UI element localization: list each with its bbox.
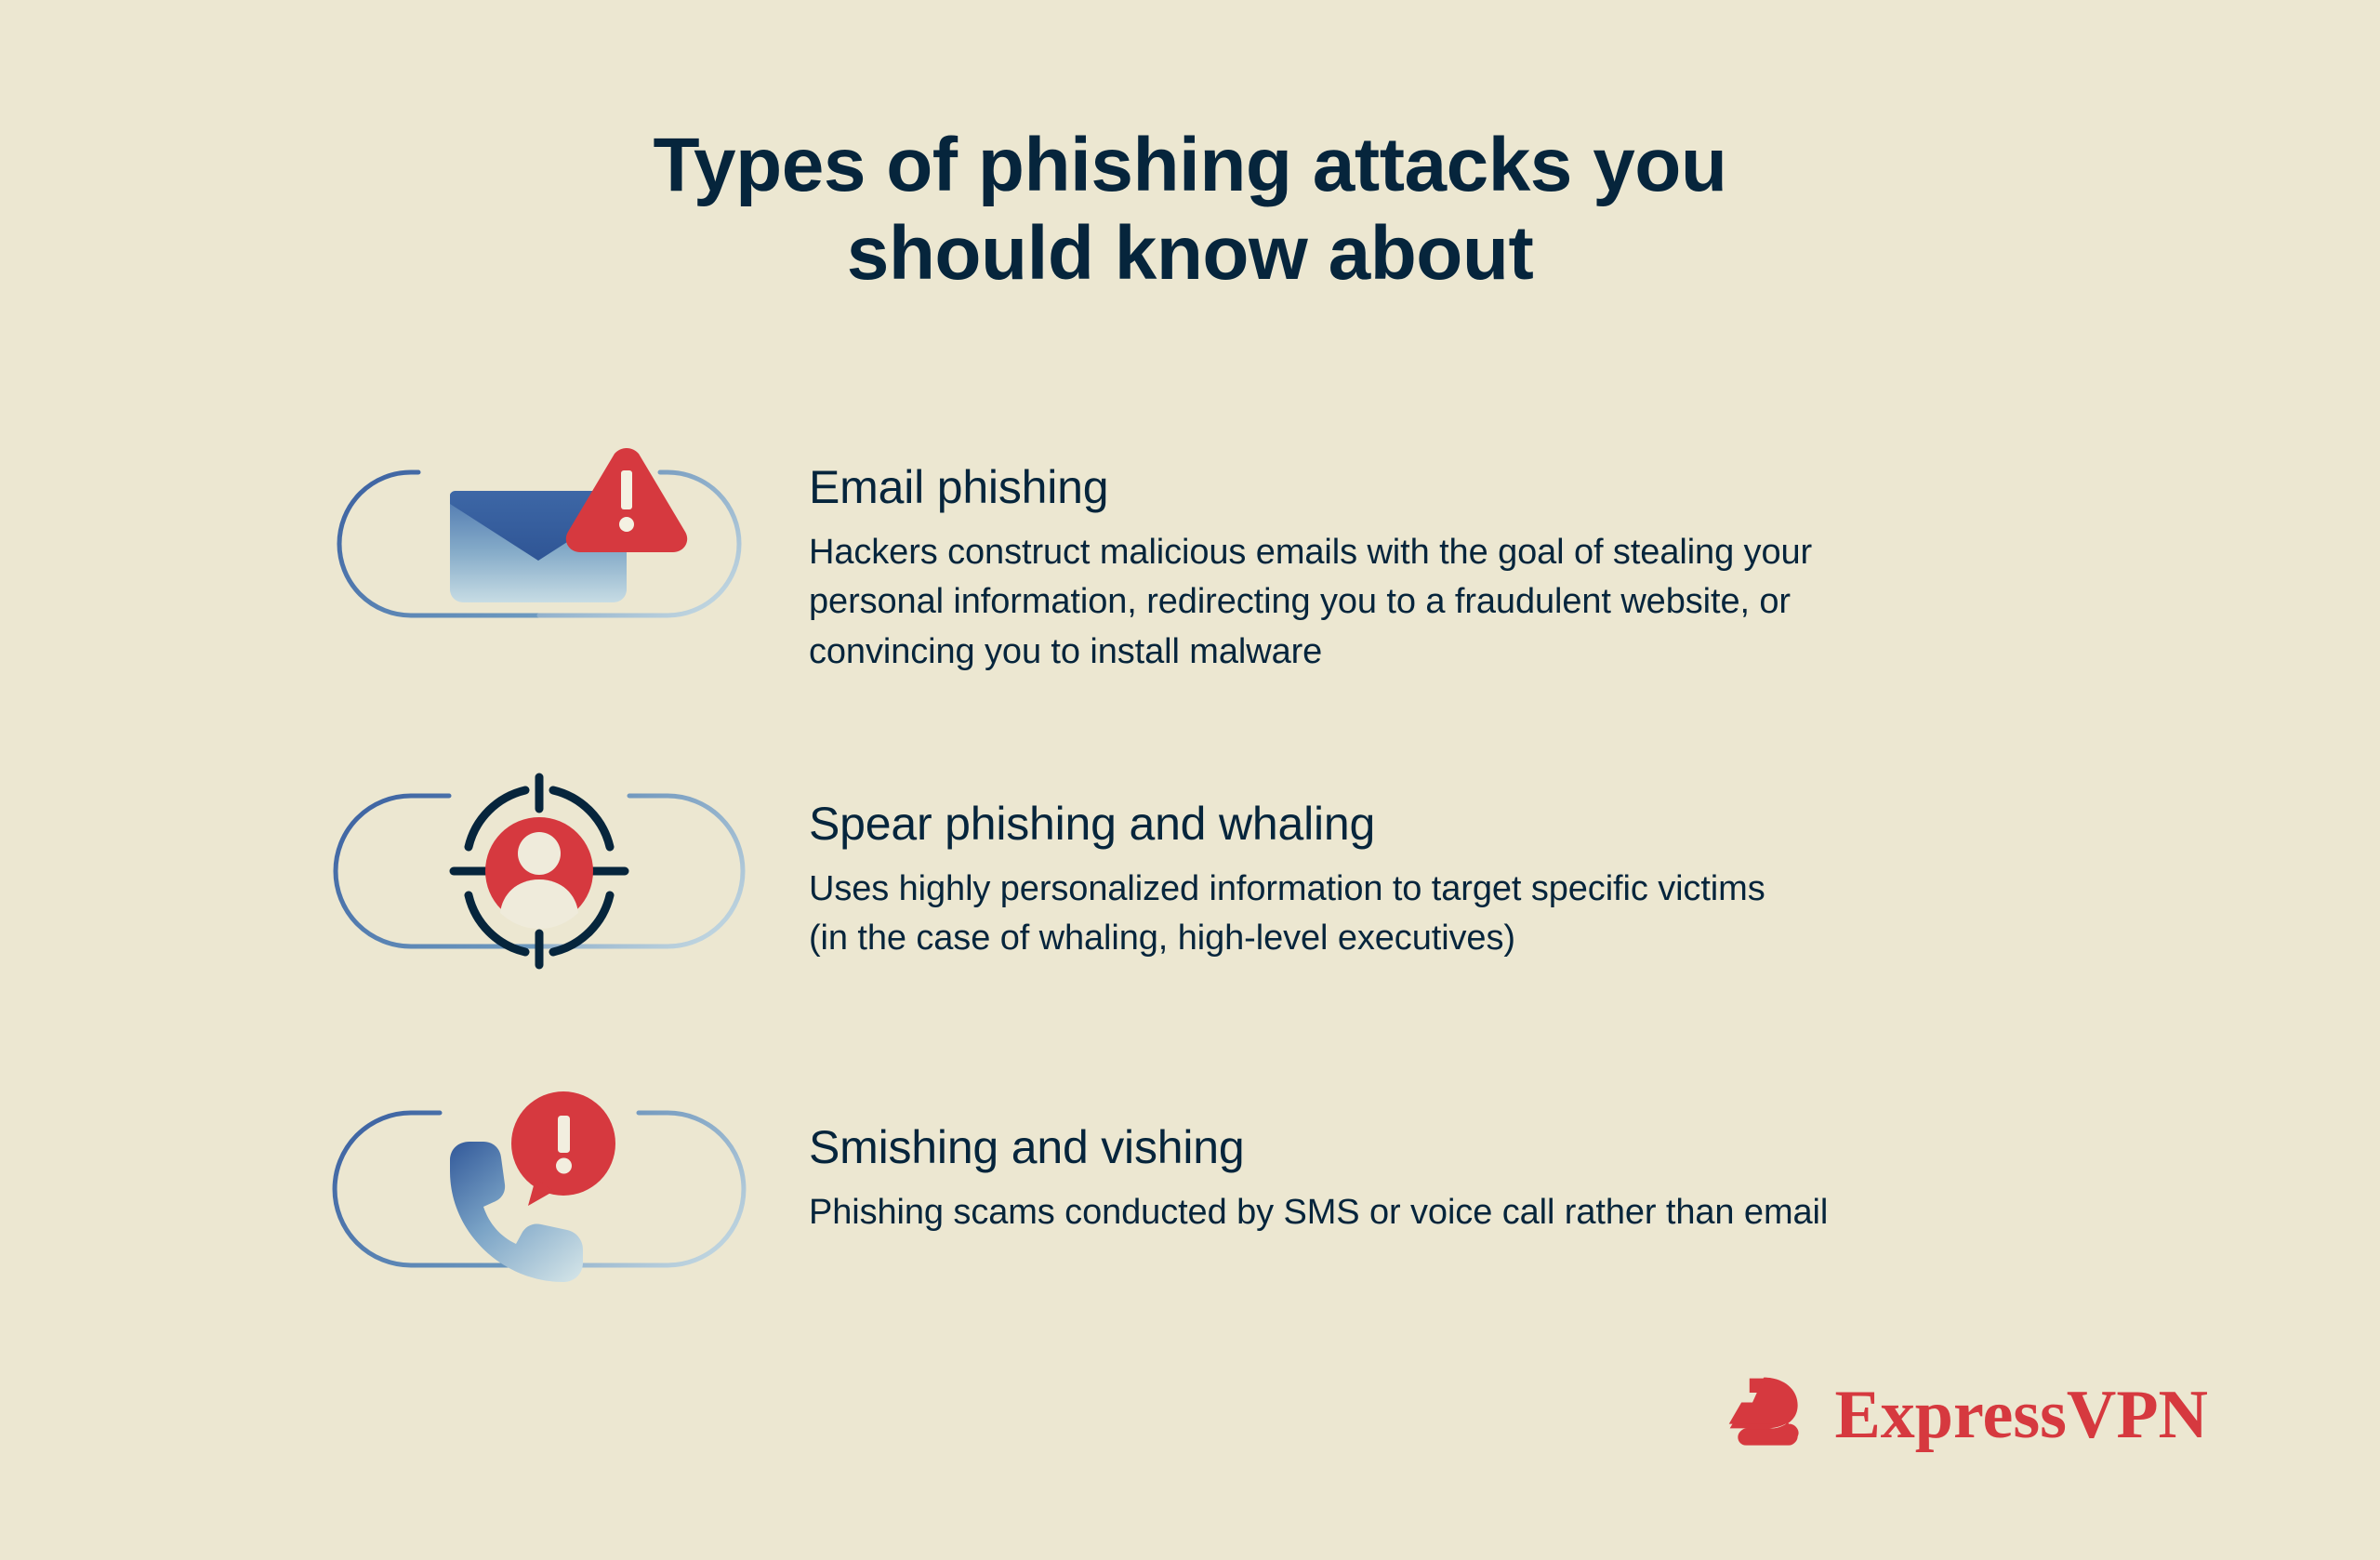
section-list: Email phishing Hackers construct malicio… [0, 437, 2380, 1380]
page-title-line-1: Types of phishing attacks you [0, 121, 2380, 209]
target-person-icon [353, 764, 725, 978]
section-body: Phishing scams conducted by SMS or voice… [809, 1188, 1828, 1238]
section-spear-phishing: Spear phishing and whaling Uses highly p… [0, 764, 2380, 1080]
section-heading: Email phishing [809, 461, 1812, 515]
expressvpn-logo-mark [1723, 1370, 1812, 1460]
section-heading: Spear phishing and whaling [809, 798, 1765, 852]
section-text-email-phishing: Email phishing Hackers construct malicio… [809, 437, 1812, 678]
section-body: Hackers construct malicious emails with … [809, 528, 1812, 679]
section-text-spear-phishing: Spear phishing and whaling Uses highly p… [809, 764, 1765, 964]
expressvpn-wordmark: ExpressVPN [1834, 1381, 2208, 1449]
section-smishing-vishing: Smishing and vishing Phishing scams cond… [0, 1082, 2380, 1380]
section-heading: Smishing and vishing [809, 1121, 1828, 1175]
page-title: Types of phishing attacks you should kno… [0, 121, 2380, 297]
phone-alert-icon [353, 1082, 725, 1296]
section-text-smishing-vishing: Smishing and vishing Phishing scams cond… [809, 1082, 1828, 1237]
email-warning-icon [353, 437, 725, 651]
page-title-line-2: should know about [0, 209, 2380, 297]
infographic-page: Types of phishing attacks you should kno… [0, 0, 2380, 1560]
expressvpn-logo: ExpressVPN [1723, 1370, 2208, 1460]
section-body: Uses highly personalized information to … [809, 865, 1765, 965]
section-email-phishing: Email phishing Hackers construct malicio… [0, 437, 2380, 762]
